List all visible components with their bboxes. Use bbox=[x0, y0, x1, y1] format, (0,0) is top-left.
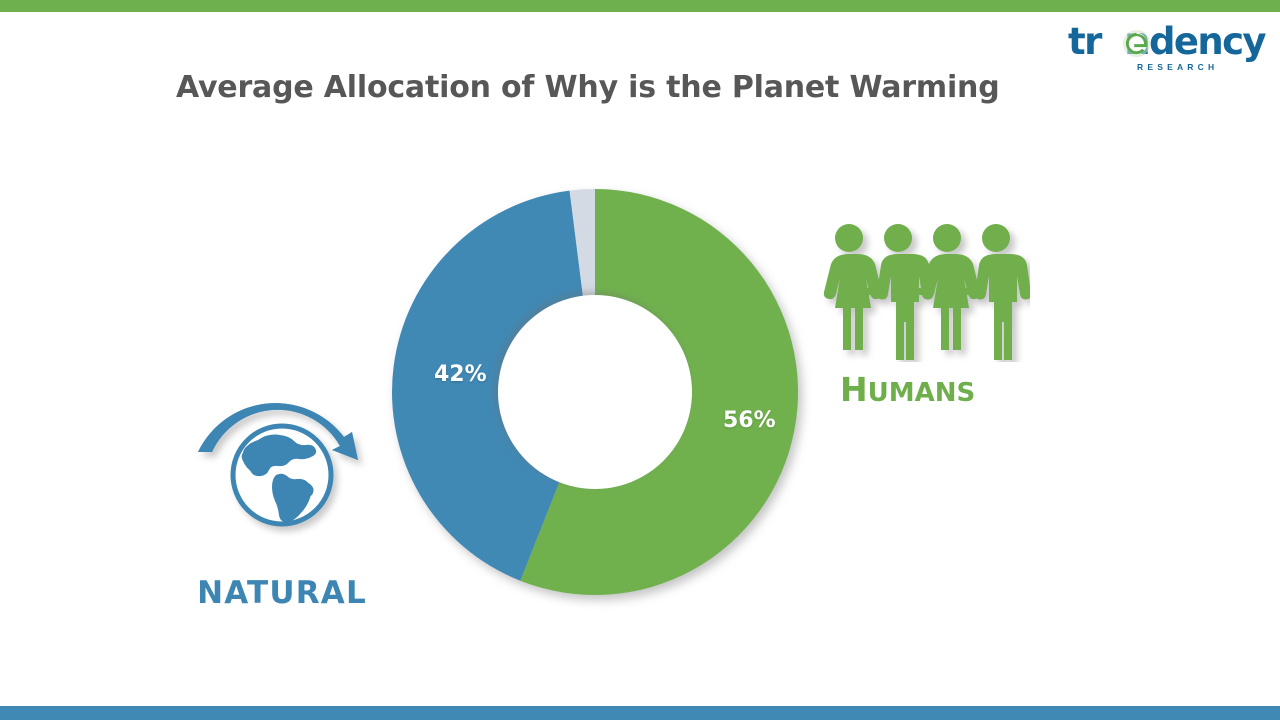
logo-green-e-icon bbox=[1122, 29, 1151, 58]
slide-canvas: trendency RESEARCH ® Average Allocation … bbox=[0, 0, 1280, 720]
donut-label-humans: 56% bbox=[723, 408, 776, 433]
trendency-research-logo: trendency RESEARCH ® bbox=[1068, 22, 1268, 74]
donut-center-hole bbox=[498, 295, 692, 489]
logo-wordmark-prefix: tr bbox=[1068, 20, 1101, 63]
bottom-accent-bar bbox=[0, 706, 1280, 720]
page-title: Average Allocation of Why is the Planet … bbox=[176, 70, 999, 105]
legend-label-natural: NATURAL bbox=[196, 575, 368, 611]
globe-recycle-arrows-icon bbox=[180, 390, 385, 560]
logo-subtitle: RESEARCH bbox=[1137, 62, 1218, 72]
logo-trademark: ® bbox=[1258, 32, 1265, 42]
top-accent-bar bbox=[0, 0, 1280, 12]
logo-wordmark: trendency bbox=[1068, 22, 1265, 62]
legend-label-humans-rest: UMANS bbox=[868, 378, 976, 408]
legend-label-humans-initial: H bbox=[840, 370, 868, 409]
legend-label-humans: HUMANS bbox=[840, 370, 1012, 409]
donut-chart bbox=[372, 169, 818, 615]
four-people-icon bbox=[820, 222, 1030, 362]
donut-chart-svg bbox=[372, 169, 818, 615]
donut-label-natural: 42% bbox=[434, 362, 487, 387]
